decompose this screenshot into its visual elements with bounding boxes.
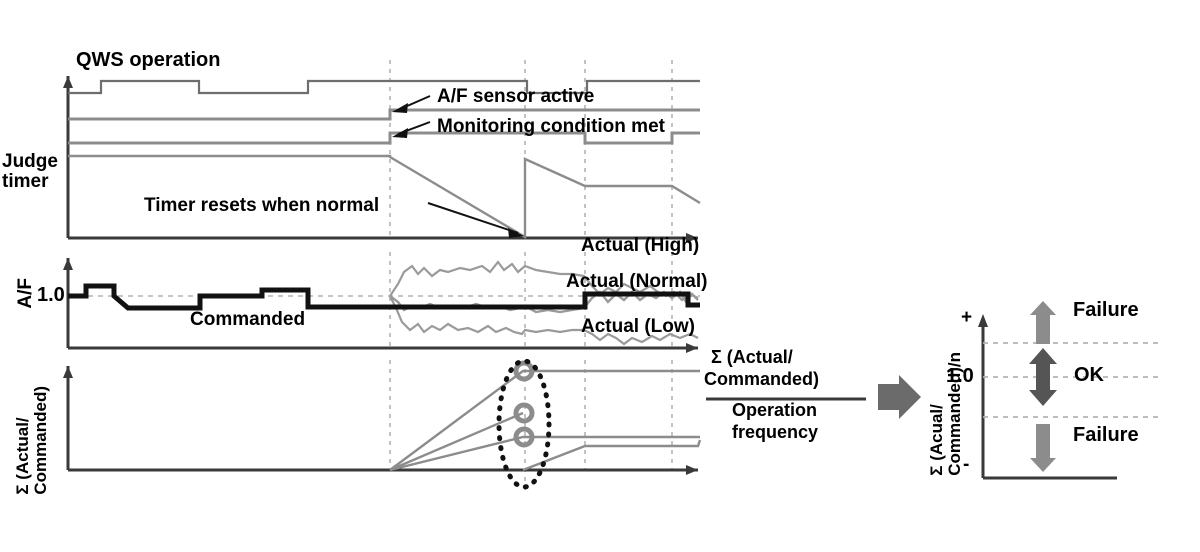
formula-denominator-line1: Operation [732,401,817,420]
sum-marker-normal [516,405,532,421]
failure-low-arrow-icon [1030,424,1056,472]
panel-result [978,301,1160,478]
result-zone-label-ok: OK [1074,365,1104,386]
af-series-label-high: Actual (High) [581,236,699,256]
result-zone-label-failure-high: Failure [1073,300,1139,321]
panel-sum [63,361,700,487]
commanded-label: Commanded [190,310,305,330]
result-axis-plus: + [961,308,972,328]
formula-numerator-line1: Σ (Actual/ [711,348,793,367]
result-threshold-lines [983,343,1160,417]
formula-numerator-line2: Commanded) [704,370,819,389]
panel-result-yaxis-arrowhead [978,314,988,327]
af-sensor-arrowhead [392,103,408,113]
formula-denominator-line2: frequency [732,423,818,442]
panel-af-xaxis-arrowhead [686,343,698,353]
af-series-label-normal: Actual (Normal) [566,272,707,292]
sum-sample-markers [516,363,532,445]
annotation-af-sensor-active: A/F sensor active [437,87,594,107]
annotation-monitoring-condition-met: Monitoring condition met [437,117,665,137]
panel-af-yaxis-arrowhead [63,258,73,270]
right-arrow-icon [878,375,921,419]
annotation-timer-resets: Timer resets when normal [144,196,379,216]
result-tick-1-0: 1.0 [946,366,974,387]
panel-top-yaxis-arrowhead [63,76,73,88]
diagram-canvas: QWS operation Judge timer A/F sensor act… [0,0,1200,552]
result-zone-label-failure-low: Failure [1073,425,1139,446]
panel-sum-xaxis-arrowhead [686,465,698,475]
panel-sum-axes [68,366,698,470]
panel-sum-yaxis-arrowhead [63,366,73,378]
af-series-label-low: Actual (Low) [581,317,695,337]
result-axis-minus: - [963,455,969,475]
sum-axis-label: Σ (Actual/ Commanded) [14,386,50,495]
af-axis-label: A/F [16,278,36,309]
panel-judge-timer [63,76,700,243]
af-tick-1-0: 1.0 [37,285,65,306]
page-title: QWS operation [76,50,220,71]
judge-timer-axis-label: Judge timer [2,152,58,192]
qws-operation-waveform [68,81,700,93]
failure-high-arrow-icon [1030,301,1056,344]
